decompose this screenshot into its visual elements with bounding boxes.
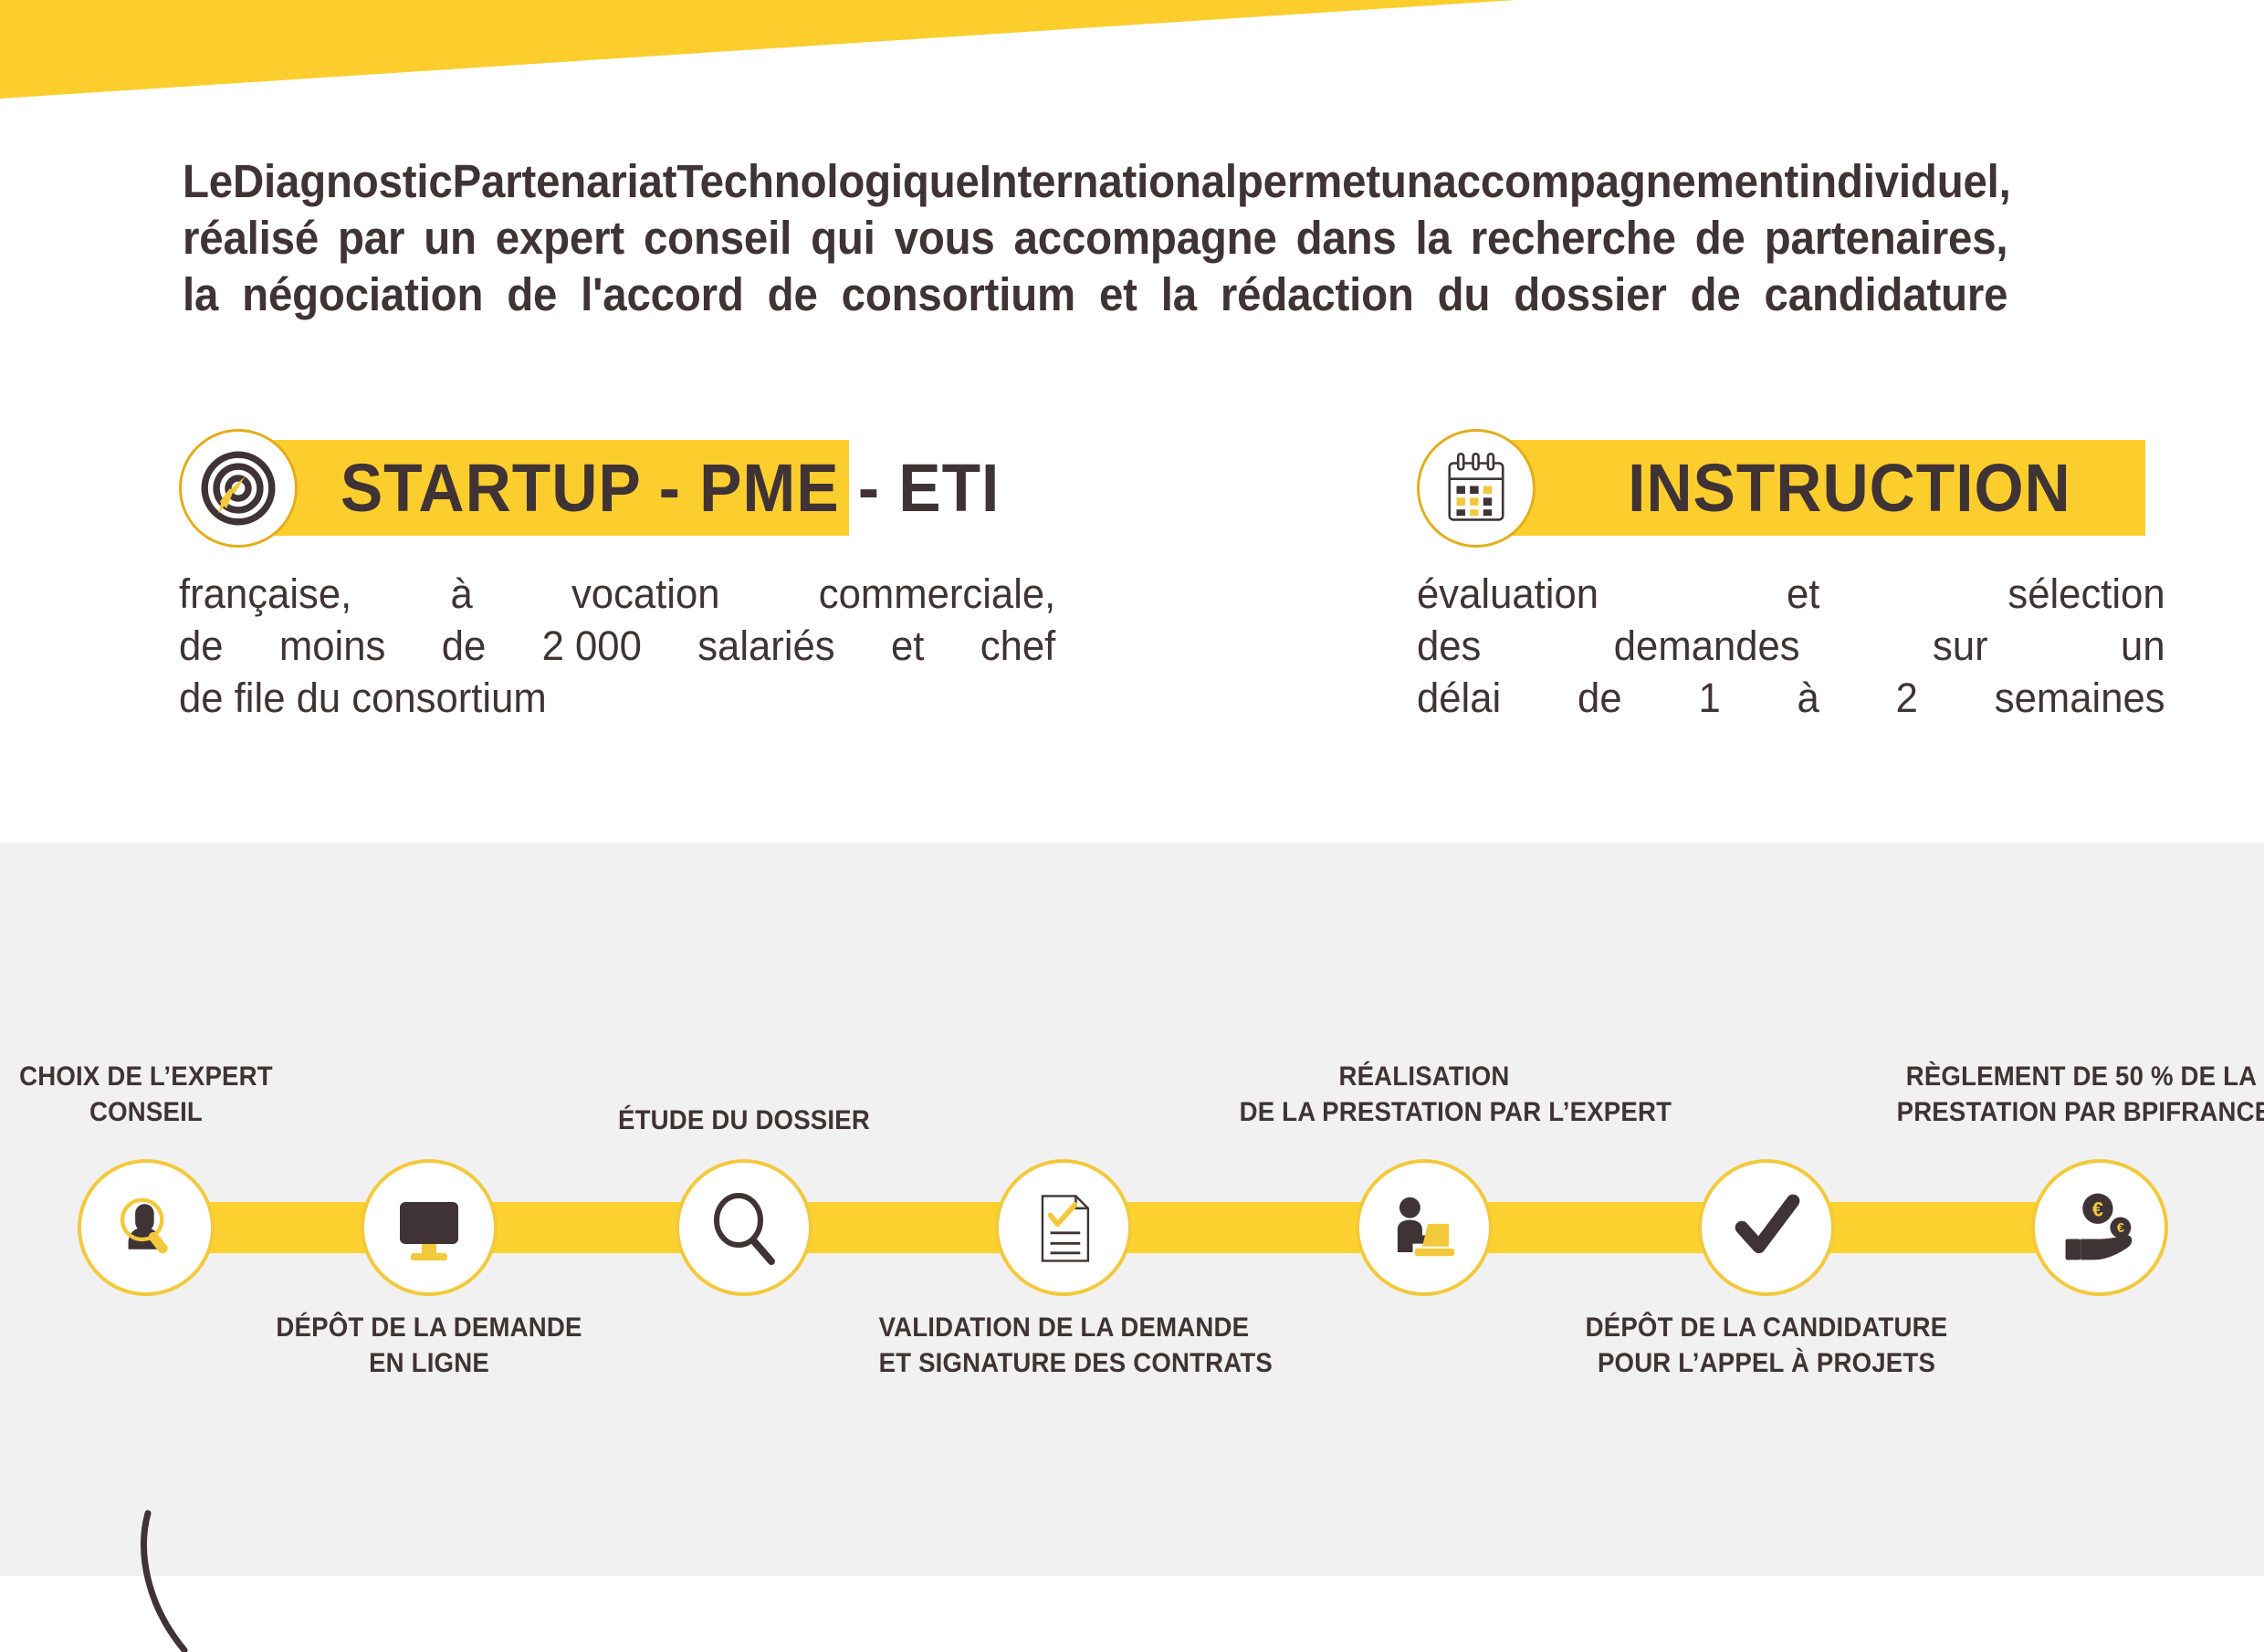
word: du	[1438, 267, 1491, 323]
word: et	[1787, 568, 1819, 620]
label-line: RÉALISATION	[1240, 1059, 1609, 1094]
person-laptop-icon	[1377, 1180, 1472, 1275]
badge-title-startup: STARTUP - PME - ETI	[274, 455, 832, 522]
timeline-label-6: DÉPÔT DE LA CANDIDATURE POUR L’APPEL À P…	[1582, 1310, 1952, 1381]
svg-text:€: €	[2117, 1221, 2124, 1236]
label-line: DE LA PRESTATION PAR L’EXPERT	[1240, 1094, 1609, 1130]
word: réalisé	[183, 210, 319, 267]
label-line: ET SIGNATURE DES CONTRATS	[879, 1345, 1249, 1381]
timeline-node-5[interactable]	[1356, 1159, 1493, 1296]
badge-column-startup: STARTUP - PME - ETI française, à vocatio…	[179, 429, 1055, 548]
badge-header-startup: STARTUP - PME - ETI	[179, 429, 1055, 548]
word: négociation	[242, 267, 483, 323]
word: chef	[980, 620, 1056, 672]
magnifier-icon	[698, 1182, 790, 1273]
badge-body-line-2: de moins de 2 000 salariés et chef	[179, 620, 1055, 672]
label-line: EN LIGNE	[245, 1345, 614, 1381]
word: partenaires,	[1765, 210, 2008, 267]
label-line: CONSEIL	[0, 1094, 330, 1130]
word: évaluation	[1417, 568, 1598, 620]
timeline-node-4[interactable]	[995, 1159, 1132, 1296]
word: dans	[1296, 210, 1397, 267]
hand-euro-coins-icon: € €	[2052, 1180, 2147, 1275]
timeline-node-1[interactable]	[78, 1159, 215, 1296]
badge-body-line-3: délai de 1 à 2 semaines	[1417, 672, 2165, 724]
label-line: PRESTATION PAR BPIFRANCE	[1897, 1094, 2264, 1130]
word: moins	[279, 620, 385, 672]
label-line: CHOIX DE L’EXPERT	[0, 1059, 330, 1094]
timeline-label-3: ÉTUDE DU DOSSIER	[560, 1103, 929, 1138]
timeline-node-6[interactable]	[1698, 1159, 1835, 1296]
label-line: POUR L’APPEL À PROJETS	[1582, 1345, 1952, 1381]
word: demandes	[1614, 620, 1800, 672]
word: à	[450, 568, 472, 620]
person-search-icon	[97, 1178, 195, 1277]
word: Le	[183, 153, 233, 210]
word: Technologique	[676, 153, 979, 210]
word: accompagnement	[1432, 153, 1798, 210]
intro-line-3: la négociation de l'accord de consortium…	[183, 267, 2008, 323]
word: accompagne	[1014, 210, 1277, 267]
word: Diagnostic	[233, 153, 453, 210]
document-check-icon	[1020, 1184, 1107, 1271]
word: de	[768, 267, 818, 323]
word: un	[424, 210, 477, 267]
word: à	[1798, 672, 1819, 724]
intro-line-2: réalisé par un expert conseil qui vous a…	[183, 210, 2008, 267]
intro-paragraph: Le Diagnostic Partenariat Technologique …	[183, 153, 2008, 323]
word: 2 000	[542, 620, 642, 672]
word: consortium	[842, 267, 1075, 323]
word: par	[338, 210, 404, 267]
word: de	[1695, 210, 1745, 267]
timeline-node-2[interactable]	[361, 1159, 498, 1296]
label-line: VALIDATION DE LA DEMANDE	[879, 1310, 1249, 1345]
intro-line-1: Le Diagnostic Partenariat Technologique …	[183, 153, 2008, 210]
timeline-node-3[interactable]	[676, 1159, 812, 1296]
word: qui	[811, 210, 875, 267]
badge-body-line-1: française, à vocation commerciale,	[179, 568, 1055, 620]
word: un	[2121, 620, 2165, 672]
word: de	[1577, 672, 1622, 724]
badge-header-instruction: INSTRUCTION	[1417, 429, 2165, 548]
word: de	[442, 620, 487, 672]
word: salariés	[697, 620, 834, 672]
badge-body-line-2: des demandes sur un	[1417, 620, 2165, 672]
timeline-node-7[interactable]: € €	[2031, 1159, 2168, 1296]
word: International	[980, 153, 1237, 210]
word: vocation	[571, 568, 720, 620]
word: la	[1416, 210, 1452, 267]
word: sur	[1933, 620, 1988, 672]
badge-bar-instruction: INSTRUCTION	[1494, 440, 2145, 536]
word: de	[507, 267, 557, 323]
word: 1	[1698, 672, 1720, 724]
timeline-label-2: DÉPÔT DE LA DEMANDE EN LIGNE	[245, 1310, 614, 1381]
badge-column-instruction: INSTRUCTION	[1417, 429, 2165, 548]
word: commerciale,	[819, 568, 1056, 620]
top-yellow-banner	[0, 0, 1552, 110]
word: française,	[179, 568, 351, 620]
badge-body-instruction: évaluation et sélection des demandes sur…	[1417, 568, 2165, 724]
badges-section: STARTUP - PME - ETI française, à vocatio…	[0, 429, 2264, 812]
word: Partenariat	[453, 153, 677, 210]
word: candidature	[1765, 267, 2008, 323]
word: dossier	[1514, 267, 1666, 323]
word: de	[1691, 267, 1741, 323]
badge-bar-startup: STARTUP - PME - ETI	[256, 440, 849, 536]
target-rocket-icon	[179, 429, 298, 548]
word: la	[1161, 267, 1197, 323]
word: conseil	[644, 210, 791, 267]
word: de	[179, 620, 224, 672]
decorative-curve	[110, 1506, 310, 1652]
calendar-icon	[1417, 429, 1536, 548]
timeline-label-7: RÈGLEMENT DE 50 % DE LA PRESTATION PAR B…	[1897, 1059, 2264, 1130]
word: et	[1099, 267, 1137, 323]
badge-body-line-3: de file du consortium	[179, 672, 1055, 724]
word: un	[1380, 153, 1433, 210]
word: délai	[1417, 672, 1501, 724]
word: vous	[895, 210, 995, 267]
svg-text:€: €	[2092, 1198, 2103, 1221]
timeline-label-1: CHOIX DE L’EXPERT CONSEIL	[0, 1059, 330, 1130]
word: permet	[1237, 153, 1380, 210]
checkmark-icon	[1719, 1180, 1814, 1275]
word: semaines	[1995, 672, 2165, 724]
word: des	[1417, 620, 1481, 672]
monitor-icon	[383, 1182, 475, 1273]
word: rédaction	[1221, 267, 1414, 323]
label-line: DÉPÔT DE LA CANDIDATURE	[1582, 1310, 1952, 1345]
word: 2	[1896, 672, 1918, 724]
label-line: RÈGLEMENT DE 50 % DE LA	[1897, 1059, 2264, 1094]
word: et	[891, 620, 924, 672]
word: la	[183, 267, 218, 323]
word: recherche	[1471, 210, 1676, 267]
badge-body-line-1: évaluation et sélection	[1417, 568, 2165, 620]
word: l'accord	[581, 267, 744, 323]
badge-body-startup: française, à vocation commerciale, de mo…	[179, 568, 1055, 724]
timeline-label-5: RÉALISATION DE LA PRESTATION PAR L’EXPER…	[1240, 1059, 1609, 1130]
badge-title-instruction: INSTRUCTION	[1513, 455, 2125, 522]
word: individuel,	[1798, 153, 2011, 210]
word: expert	[496, 210, 624, 267]
label-line: ÉTUDE DU DOSSIER	[560, 1103, 929, 1138]
label-line: DÉPÔT DE LA DEMANDE	[245, 1310, 614, 1345]
timeline-label-4: VALIDATION DE LA DEMANDE ET SIGNATURE DE…	[879, 1310, 1249, 1381]
word: sélection	[2007, 568, 2164, 620]
